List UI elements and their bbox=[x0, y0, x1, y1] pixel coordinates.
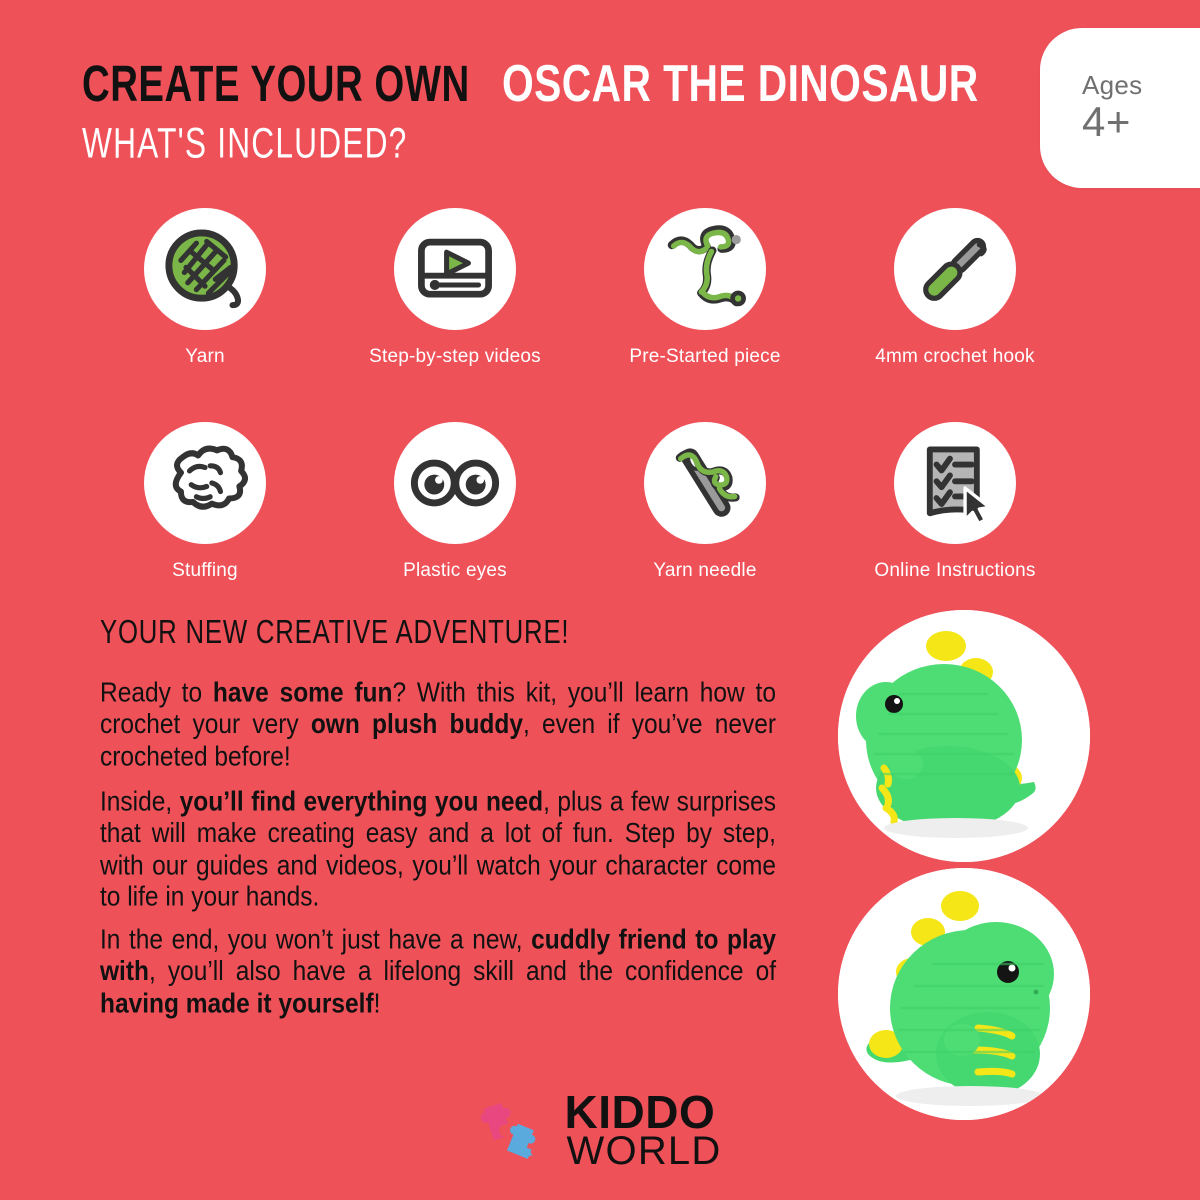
copy-paragraph: Ready to have some fun? With this kit, y… bbox=[100, 678, 776, 773]
icon-circle bbox=[644, 208, 766, 330]
yarn-needle-icon bbox=[660, 438, 750, 528]
included-items-grid: Yarn Step-by-step videos bbox=[80, 208, 1080, 582]
subtitle: WHAT'S INCLUDED? bbox=[82, 121, 1032, 164]
icon-label: Step-by-step videos bbox=[369, 346, 541, 368]
logo-brand-bottom: WORLD bbox=[567, 1133, 722, 1170]
icon-label: Plastic eyes bbox=[403, 560, 507, 582]
copy-heading: YOUR NEW CREATIVE ADVENTURE! bbox=[100, 614, 769, 648]
crochet-hook-icon bbox=[912, 226, 998, 312]
checklist-cursor-icon bbox=[913, 441, 997, 525]
included-item-eyes: Plastic eyes bbox=[330, 422, 580, 582]
title-row: CREATE YOUR OWN OSCAR THE DINOSAUR bbox=[82, 70, 1042, 110]
brand-logo: KIDDO WORLD bbox=[0, 1091, 1200, 1170]
icon-circle bbox=[144, 208, 266, 330]
icon-circle bbox=[144, 422, 266, 544]
icon-label: Yarn bbox=[185, 346, 225, 368]
included-item-yarn: Yarn bbox=[80, 208, 330, 368]
included-item-needle: Yarn needle bbox=[580, 422, 830, 582]
video-player-icon bbox=[413, 227, 497, 311]
icon-circle bbox=[894, 422, 1016, 544]
plastic-eyes-icon bbox=[409, 452, 501, 514]
puzzle-pieces-icon bbox=[479, 1094, 551, 1166]
ages-badge: Ages 4+ bbox=[1040, 28, 1200, 188]
body-copy: YOUR NEW CREATIVE ADVENTURE! Ready to ha… bbox=[100, 622, 776, 1010]
included-item-instructions: Online Instructions bbox=[830, 422, 1080, 582]
product-photo-front-view bbox=[838, 868, 1090, 1120]
icon-label: Stuffing bbox=[172, 560, 238, 582]
poster-canvas: CREATE YOUR OWN OSCAR THE DINOSAUR WHAT'… bbox=[0, 0, 1200, 1200]
icon-label: Online Instructions bbox=[874, 560, 1035, 582]
icon-label: Pre-Started piece bbox=[629, 346, 780, 368]
crochet-chain-icon bbox=[659, 223, 751, 315]
included-item-videos: Step-by-step videos bbox=[330, 208, 580, 368]
included-item-hook: 4mm crochet hook bbox=[830, 208, 1080, 368]
icon-circle bbox=[644, 422, 766, 544]
icon-circle bbox=[394, 422, 516, 544]
included-item-prestarted: Pre-Started piece bbox=[580, 208, 830, 368]
icon-label: 4mm crochet hook bbox=[875, 346, 1035, 368]
product-photo-side-view bbox=[838, 610, 1090, 862]
copy-paragraph: In the end, you won’t just have a new, c… bbox=[100, 925, 776, 1020]
copy-paragraph: Inside, you’ll find everything you need,… bbox=[100, 787, 776, 914]
yarn-ball-icon bbox=[162, 226, 248, 312]
dinosaur-side-view-illustration bbox=[838, 610, 1090, 862]
stuffing-cloud-icon bbox=[162, 440, 248, 526]
title-product: OSCAR THE DINOSAUR bbox=[502, 58, 979, 110]
ages-value: 4+ bbox=[1082, 99, 1131, 145]
icon-label: Yarn needle bbox=[653, 560, 756, 582]
logo-brand-top: KIDDO bbox=[565, 1091, 722, 1133]
icon-circle bbox=[894, 208, 1016, 330]
icon-circle bbox=[394, 208, 516, 330]
title-prefix: CREATE YOUR OWN bbox=[82, 59, 470, 110]
logo-text: KIDDO WORLD bbox=[565, 1091, 722, 1170]
dinosaur-front-view-illustration bbox=[838, 868, 1090, 1120]
included-item-stuffing: Stuffing bbox=[80, 422, 330, 582]
ages-label: Ages bbox=[1082, 71, 1142, 100]
header: CREATE YOUR OWN OSCAR THE DINOSAUR WHAT'… bbox=[82, 70, 1042, 164]
